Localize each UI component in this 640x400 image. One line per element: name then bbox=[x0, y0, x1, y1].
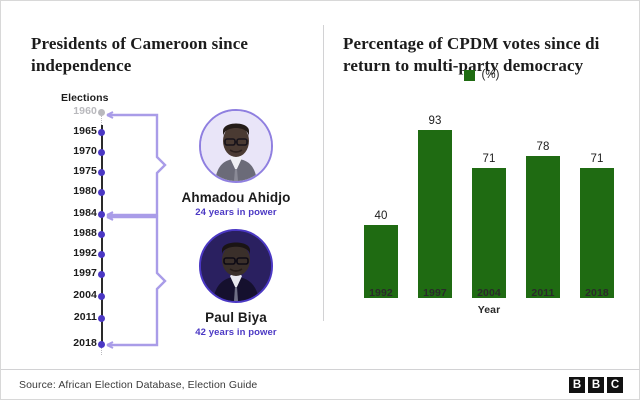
bar-value-label: 93 bbox=[429, 115, 442, 127]
tenure-bracket-ahidjo bbox=[101, 109, 169, 221]
president-tenure: 24 years in power bbox=[161, 207, 311, 218]
timeline-dot bbox=[98, 251, 105, 258]
bar-column[interactable]: 78 bbox=[526, 115, 560, 299]
bar-rect[interactable] bbox=[526, 156, 560, 300]
bar-rect[interactable] bbox=[418, 130, 452, 299]
x-tick-label: 2004 bbox=[472, 287, 506, 299]
bar-value-label: 71 bbox=[591, 153, 604, 165]
x-tick-label: 2011 bbox=[526, 287, 560, 299]
timeline-dot bbox=[98, 149, 105, 156]
president-tenure: 42 years in power bbox=[161, 327, 311, 338]
right-panel-title-line1: Percentage of CPDM votes since di bbox=[343, 33, 639, 55]
timeline-year-label: 2004 bbox=[73, 289, 97, 301]
timeline-dot bbox=[98, 109, 105, 116]
x-axis-ticks: 1992 1997 2004 2011 2018 bbox=[364, 287, 614, 299]
x-tick-label: 1992 bbox=[364, 287, 398, 299]
timeline-tick: 1965 bbox=[1, 129, 119, 141]
legend-swatch-percent bbox=[464, 70, 475, 81]
timeline-tick: 1975 bbox=[1, 169, 119, 181]
timeline-tick: 1970 bbox=[1, 149, 119, 161]
x-tick-label: 2018 bbox=[580, 287, 614, 299]
timeline-tick: 2004 bbox=[1, 293, 119, 305]
timeline-year-label: 1970 bbox=[73, 145, 97, 157]
timeline-tick: 1984 bbox=[1, 211, 119, 223]
infographic-root: Presidents of Cameroon since independenc… bbox=[0, 0, 640, 400]
timeline-year-label: 1975 bbox=[73, 165, 97, 177]
timeline-dot bbox=[98, 341, 105, 348]
bar-value-label: 40 bbox=[375, 210, 388, 222]
avatar-biya bbox=[199, 229, 273, 303]
timeline-dot bbox=[98, 293, 105, 300]
portrait-ahidjo-icon bbox=[201, 111, 271, 181]
timeline-dot bbox=[98, 169, 105, 176]
left-panel-title: Presidents of Cameroon since independenc… bbox=[31, 33, 293, 77]
timeline-tick: 1992 bbox=[1, 251, 119, 263]
timeline-dot bbox=[98, 271, 105, 278]
bar-rect[interactable] bbox=[580, 168, 614, 299]
timeline-year-label: 1992 bbox=[73, 247, 97, 259]
legend-label-percent: (%) bbox=[482, 69, 500, 81]
timeline-dot bbox=[98, 189, 105, 196]
timeline-tick: 2018 bbox=[1, 341, 119, 353]
bar-rect[interactable] bbox=[472, 168, 506, 299]
timeline-tick: 2011 bbox=[1, 315, 119, 327]
bar-chart-plot: 40 93 71 78 bbox=[364, 99, 614, 299]
timeline-tick: 1980 bbox=[1, 189, 119, 201]
timeline-year-label: 1965 bbox=[73, 125, 97, 137]
president-name: Ahmadou Ahidjo bbox=[161, 190, 311, 205]
source-attribution: Source: African Election Database, Elect… bbox=[19, 379, 257, 391]
bar-column[interactable]: 40 bbox=[364, 115, 398, 299]
chart-legend: (%) bbox=[324, 69, 639, 81]
timeline-year-label: 1988 bbox=[73, 227, 97, 239]
president-card-biya: Paul Biya 42 years in power bbox=[161, 229, 311, 338]
timeline-dot bbox=[98, 315, 105, 322]
bar-column[interactable]: 93 bbox=[418, 115, 452, 299]
footer: Source: African Election Database, Elect… bbox=[1, 370, 640, 400]
x-tick-label: 1997 bbox=[418, 287, 452, 299]
timeline-year-label: 1980 bbox=[73, 185, 97, 197]
bar-group: 40 93 71 78 bbox=[364, 115, 614, 299]
bar-value-label: 78 bbox=[537, 141, 550, 153]
timeline-tick: 1988 bbox=[1, 231, 119, 243]
timeline-year-label: 1960 bbox=[73, 105, 97, 117]
bar-column[interactable]: 71 bbox=[472, 115, 506, 299]
timeline-panel: Presidents of Cameroon since independenc… bbox=[1, 1, 323, 339]
timeline-tick: 1997 bbox=[1, 271, 119, 283]
bbc-logo-box: B bbox=[588, 377, 604, 393]
avatar-ahidjo bbox=[199, 109, 273, 183]
timeline-dot bbox=[98, 231, 105, 238]
timeline-dot bbox=[98, 129, 105, 136]
timeline-dot bbox=[98, 211, 105, 218]
timeline-year-label: 2011 bbox=[74, 311, 97, 323]
bbc-logo: B B C bbox=[569, 377, 623, 393]
panels-container: Presidents of Cameroon since independenc… bbox=[1, 1, 639, 339]
bbc-logo-box: C bbox=[607, 377, 623, 393]
elections-axis-header: Elections bbox=[61, 92, 109, 104]
x-axis-title: Year bbox=[364, 304, 614, 316]
timeline-year-label: 2018 bbox=[73, 337, 97, 349]
bar-value-label: 71 bbox=[483, 153, 496, 165]
bar-chart-panel: Percentage of CPDM votes since di return… bbox=[324, 1, 639, 339]
bar-column[interactable]: 71 bbox=[580, 115, 614, 299]
portrait-biya-icon bbox=[201, 231, 271, 301]
president-card-ahidjo: Ahmadou Ahidjo 24 years in power bbox=[161, 109, 311, 218]
bbc-logo-box: B bbox=[569, 377, 585, 393]
president-name: Paul Biya bbox=[161, 310, 311, 325]
timeline-tick: 1960 bbox=[1, 109, 119, 121]
timeline-year-label: 1997 bbox=[73, 267, 97, 279]
timeline-year-label: 1984 bbox=[73, 207, 97, 219]
